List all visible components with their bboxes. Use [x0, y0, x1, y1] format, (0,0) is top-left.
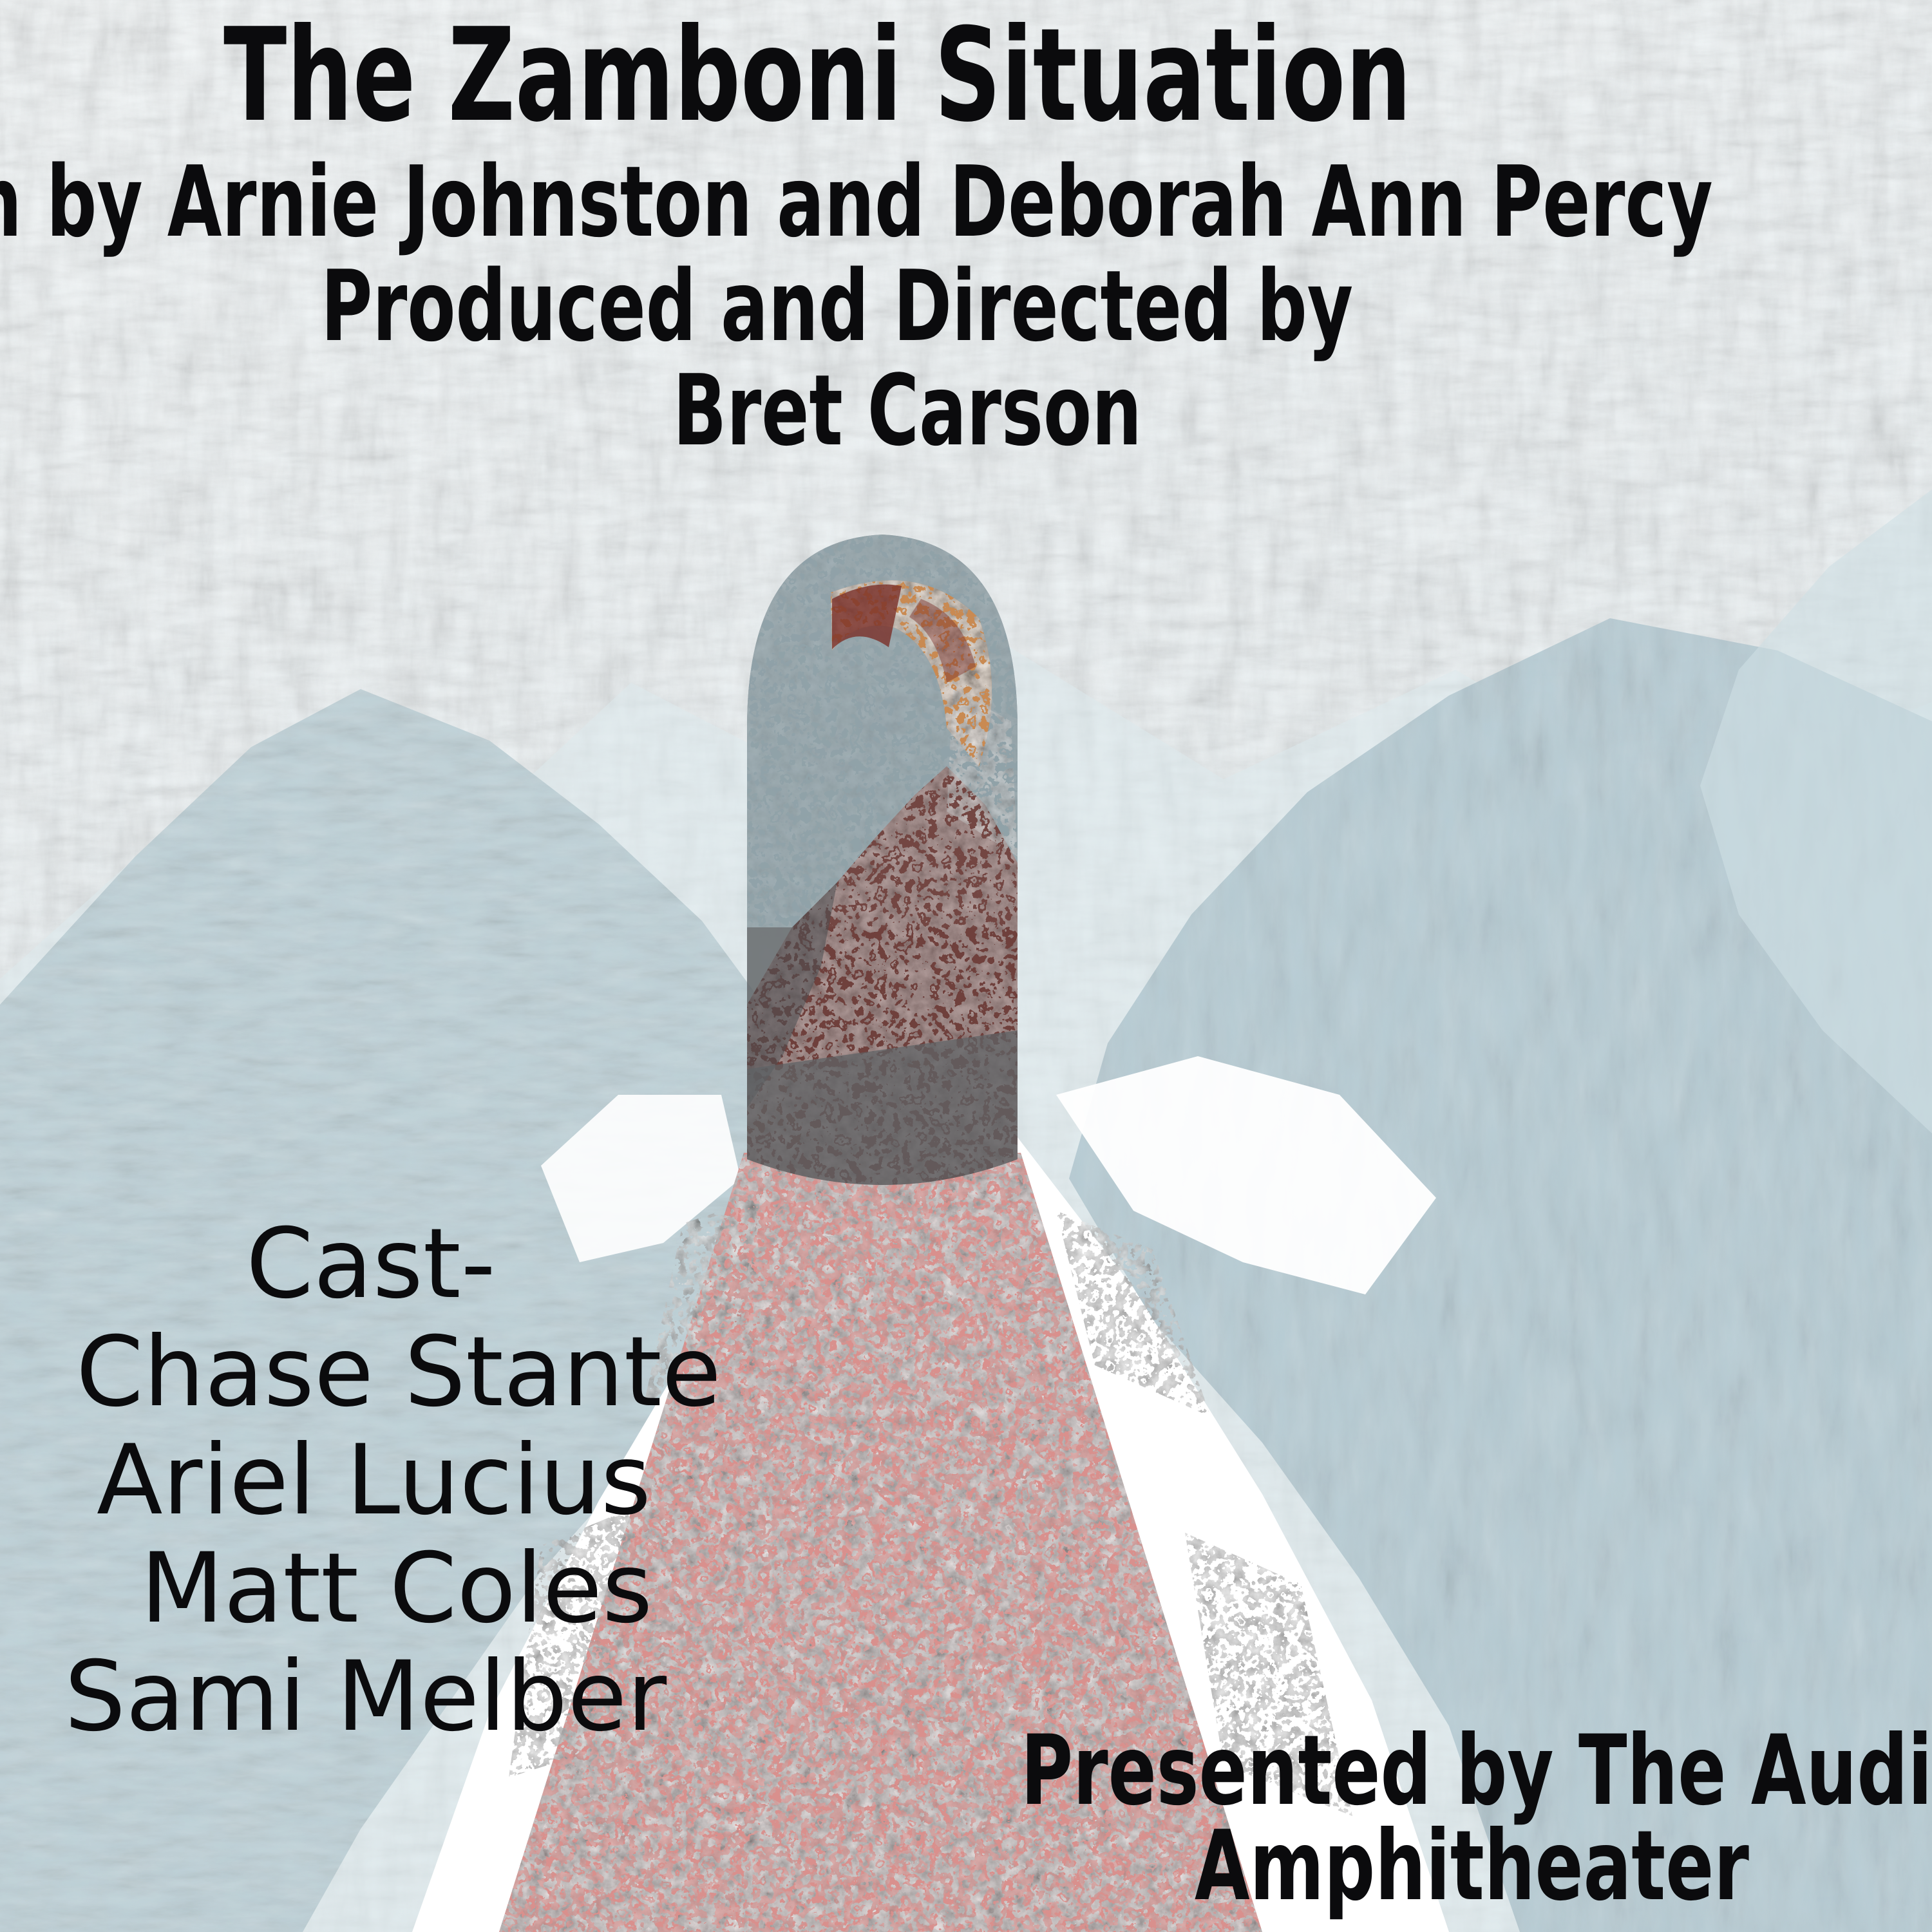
cast-member: Ariel Lucius	[97, 1432, 651, 1529]
cast-heading: Cast-	[246, 1216, 496, 1312]
cast-member: Sami Melber	[64, 1649, 667, 1745]
writers-credit: Written by Arnie Johnston and Deborah An…	[0, 153, 1713, 251]
poster-canvas: The Zamboni Situation Written by Arnie J…	[0, 0, 1932, 1932]
presenter-line-1: Presented by The Audio	[1021, 1723, 1932, 1819]
produced-directed-credit: Produced and Directed by	[321, 258, 1353, 355]
page-title: The Zamboni Situation	[223, 12, 1412, 140]
cast-member: Matt Coles	[140, 1540, 652, 1637]
cast-member: Chase Stante	[76, 1324, 721, 1421]
presenter-line-2: Amphitheater	[1195, 1818, 1749, 1915]
director-name: Bret Carson	[673, 362, 1142, 460]
rocket-form	[734, 528, 1030, 1185]
